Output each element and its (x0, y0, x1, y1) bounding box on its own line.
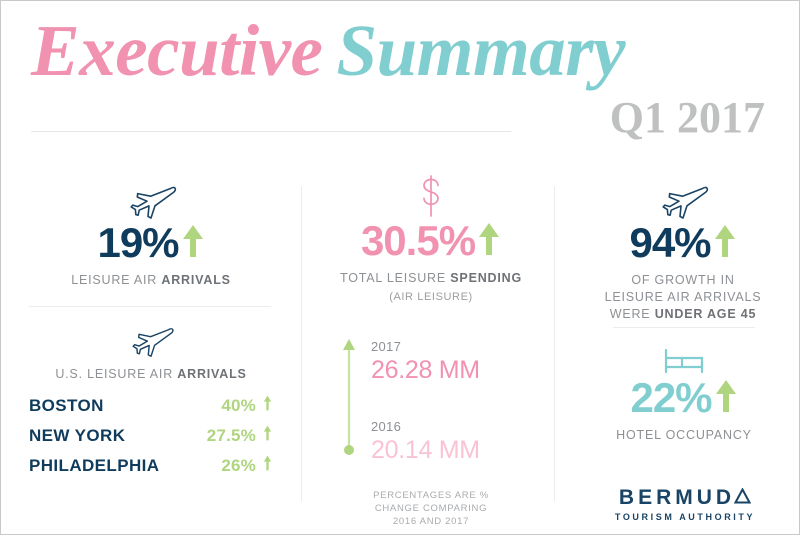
arrow-up-icon (262, 395, 273, 416)
city-name: PHILADELPHIA (29, 456, 159, 476)
stat-value-total-leisure-spending: 30.5% (361, 219, 475, 263)
spacer (371, 385, 541, 419)
year-value: 20.14 MM (371, 435, 541, 465)
stat-row-total-leisure-spending: 30.5% (331, 219, 531, 263)
city-percent: 27.5% (207, 426, 256, 446)
airplane-icon (593, 181, 773, 221)
logo-wordmark: BERMUD (605, 486, 765, 509)
year-values: 2017 26.28 MM 2016 20.14 MM (371, 339, 541, 465)
page-title: ExecutiveSummary (31, 9, 776, 93)
caption-leisure-air-arrivals: LEISURE AIR ARRIVALS (29, 272, 273, 289)
caption-text-normal: U.S. LEISURE AIR (55, 367, 177, 381)
panel-us-leisure-air-arrivals: U.S. LEISURE AIR ARRIVALS BOSTON 40% NEW… (29, 323, 273, 485)
list-item: PHILADELPHIA 26% (29, 455, 273, 476)
header: ExecutiveSummary Q1 2017 (1, 1, 800, 151)
panel-total-leisure-spending: 30.5% TOTAL LEISURE SPENDING (AIR LEISUR… (331, 173, 531, 306)
footnote-line-one: PERCENTAGES ARE % (373, 490, 489, 501)
year-label: 2016 (371, 419, 541, 435)
arrow-up-icon (262, 425, 273, 446)
stat-row-growth-under-age: 94% (593, 221, 773, 265)
stat-row-leisure-air-arrivals: 19% (29, 221, 273, 265)
panel-leisure-air-arrivals: 19% LEISURE AIR ARRIVALS (29, 181, 273, 289)
triangle-a-icon (734, 486, 751, 509)
footnote-line-two: CHANGE COMPARING (375, 503, 487, 514)
stat-value-hotel-occupancy: 22% (630, 376, 711, 420)
city-percent: 40% (221, 396, 256, 416)
bermuda-tourism-authority-logo: BERMUD TOURISM AUTHORITY (605, 486, 765, 524)
caption-text-bold: ARRIVALS (161, 273, 230, 287)
caption-line-one: OF GROWTH IN (631, 273, 734, 287)
header-divider (31, 131, 511, 132)
infographic-page: ExecutiveSummary Q1 2017 19% LEISURE AIR… (0, 0, 800, 535)
caption-text-normal: LEISURE AIR (71, 273, 161, 287)
caption-text-bold: SPENDING (450, 271, 522, 285)
city-value: 26% (221, 455, 273, 476)
stat-row-hotel-occupancy: 22% (594, 376, 774, 420)
list-item: NEW YORK 27.5% (29, 425, 273, 446)
year-value: 26.28 MM (371, 355, 541, 385)
year-group-2016: 2016 20.14 MM (371, 419, 541, 465)
title-word-executive: Executive (31, 10, 322, 91)
caption-growth-under-age: OF GROWTH IN LEISURE AIR ARRIVALS WERE U… (593, 272, 773, 323)
caption-text-sub: (AIR LEISURE) (331, 289, 531, 306)
caption-hotel-occupancy: HOTEL OCCUPANCY (594, 427, 774, 444)
dollar-sign-icon (331, 173, 531, 219)
logo-tagline: TOURISM AUTHORITY (605, 511, 765, 524)
footnote: PERCENTAGES ARE % CHANGE COMPARING 2016 … (331, 489, 531, 528)
year-group-2017: 2017 26.28 MM (371, 339, 541, 385)
city-name: NEW YORK (29, 426, 125, 446)
list-item: BOSTON 40% (29, 395, 273, 416)
airplane-icon (29, 323, 273, 359)
caption-text-bold: ARRIVALS (177, 367, 246, 381)
arrow-up-icon (181, 224, 205, 263)
row-divider-column-three (613, 327, 755, 328)
title-word-summary: Summary (336, 10, 625, 91)
footnote-line-three: 2016 AND 2017 (393, 516, 469, 527)
airplane-icon (29, 181, 273, 221)
caption-line-three-bold: UNDER AGE 45 (655, 307, 757, 321)
panel-year-comparison: 2017 26.28 MM 2016 20.14 MM (341, 339, 541, 465)
city-arrivals-list: BOSTON 40% NEW YORK 27.5% PHIL (29, 395, 273, 476)
caption-text-normal: TOTAL LEISURE (340, 271, 450, 285)
year-label: 2017 (371, 339, 541, 355)
caption-line-three-normal: WERE (610, 307, 655, 321)
city-name: BOSTON (29, 396, 104, 416)
caption-total-leisure-spending: TOTAL LEISURE SPENDING (AIR LEISURE) (331, 270, 531, 306)
caption-line-two: LEISURE AIR ARRIVALS (605, 290, 762, 304)
bed-icon (594, 346, 774, 376)
stat-value-growth-under-age: 94% (629, 221, 710, 265)
arrow-up-icon (262, 455, 273, 476)
column-divider-right (554, 186, 555, 501)
city-percent: 26% (221, 456, 256, 476)
logo-name: BERMUD (619, 486, 735, 509)
growth-arrow-icon (341, 339, 357, 457)
row-divider-column-one (29, 306, 271, 307)
arrow-up-icon (713, 224, 737, 263)
panel-hotel-occupancy: 22% HOTEL OCCUPANCY (594, 346, 774, 444)
panel-growth-under-age: 94% OF GROWTH IN LEISURE AIR ARRIVALS WE… (593, 181, 773, 323)
city-value: 40% (221, 395, 273, 416)
caption-us-leisure-air-arrivals: U.S. LEISURE AIR ARRIVALS (29, 366, 273, 383)
page-subtitle: Q1 2017 (610, 94, 765, 142)
arrow-up-icon (714, 379, 738, 418)
city-value: 27.5% (207, 425, 273, 446)
column-divider-left (301, 186, 302, 501)
arrow-up-icon (477, 222, 501, 261)
stat-value-leisure-air-arrivals: 19% (97, 221, 178, 265)
